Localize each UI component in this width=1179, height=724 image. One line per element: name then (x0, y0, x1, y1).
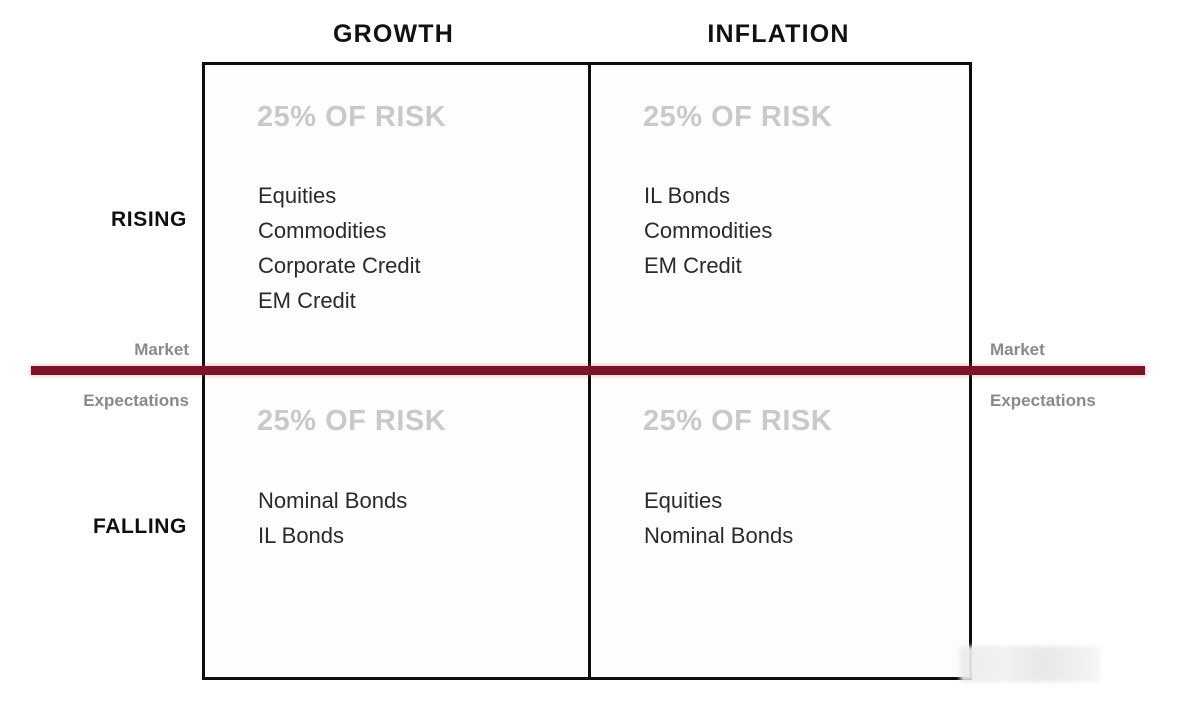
risk-share-label: 25% OF RISK (257, 405, 446, 438)
risk-share-label: 25% OF RISK (643, 405, 832, 438)
list-item: Nominal Bonds (258, 483, 407, 518)
column-header-growth: GROWTH (202, 20, 585, 49)
quadrant-inflation-rising: 25% OF RISK IL Bonds Commodities EM Cred… (591, 65, 972, 375)
list-item: Corporate Credit (258, 248, 421, 283)
watermark-artifact (960, 646, 1100, 682)
risk-share-label: 25% OF RISK (257, 101, 446, 134)
list-item: IL Bonds (644, 178, 772, 213)
list-item: Commodities (258, 213, 421, 248)
risk-quadrant-diagram: GROWTH INFLATION 25% OF RISK Equities Co… (0, 0, 1179, 724)
quadrant-growth-rising: 25% OF RISK Equities Commodities Corpora… (205, 65, 588, 375)
quadrant-growth-falling: 25% OF RISK Nominal Bonds IL Bonds (205, 375, 588, 677)
list-item: EM Credit (258, 283, 421, 318)
risk-share-label: 25% OF RISK (643, 101, 832, 134)
row-label-falling: FALLING (32, 515, 187, 539)
expectations-note-left-bottom: Expectations (20, 391, 189, 411)
asset-list: Nominal Bonds IL Bonds (258, 483, 407, 553)
list-item: Equities (258, 178, 421, 213)
list-item: Equities (644, 483, 793, 518)
market-expectations-line (31, 366, 1145, 375)
column-header-inflation: INFLATION (585, 20, 972, 49)
quadrant-inflation-falling: 25% OF RISK Equities Nominal Bonds (591, 375, 972, 677)
list-item: Nominal Bonds (644, 518, 793, 553)
asset-list: Equities Commodities Corporate Credit EM… (258, 178, 421, 318)
list-item: Commodities (644, 213, 772, 248)
expectations-note-left-top: Market (32, 340, 189, 360)
asset-list: IL Bonds Commodities EM Credit (644, 178, 772, 283)
list-item: IL Bonds (258, 518, 407, 553)
expectations-note-right-top: Market (990, 340, 1147, 360)
asset-list: Equities Nominal Bonds (644, 483, 793, 553)
row-label-rising: RISING (32, 208, 187, 232)
expectations-note-right-bottom: Expectations (990, 391, 1159, 411)
list-item: EM Credit (644, 248, 772, 283)
